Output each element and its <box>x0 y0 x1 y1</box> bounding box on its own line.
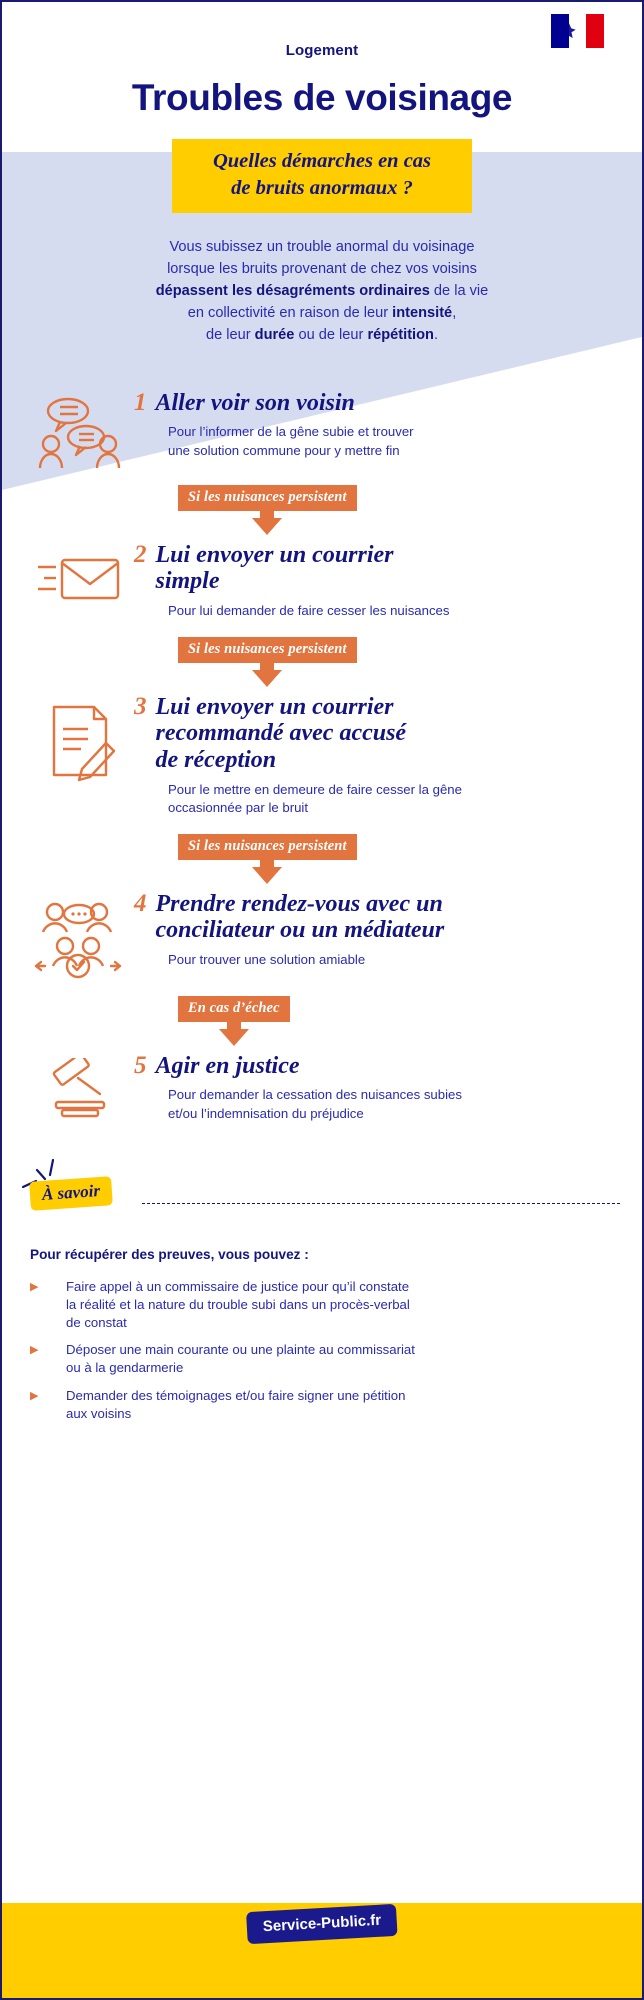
step-4: 4 Prendre rendez-vous avec un conciliate… <box>2 890 642 980</box>
intro-bold-desagrements: dépassent les désagréments ordinaires <box>156 283 430 299</box>
step-5-desc-line-2: et/ou l’indemnisation du préjudice <box>168 1105 622 1123</box>
step-2-title-line-2: simple <box>156 568 220 594</box>
intro-line-4: en collectivité en raison de leur intens… <box>112 303 532 325</box>
list-item: ▶ Déposer une main courante ou une plain… <box>30 1341 642 1377</box>
mediation-group-icon <box>24 890 134 980</box>
connector-4: En cas d’échec <box>2 996 642 1046</box>
connector-4-arrow-icon <box>219 1029 249 1046</box>
step-1: 1 Aller voir son voisin Pour l’informer … <box>2 389 642 469</box>
step-3: 3 Lui envoyer un courrier recommandé ave… <box>2 693 642 818</box>
bullet-2-line-1: Déposer une main courante ou une plainte… <box>66 1342 415 1357</box>
step-4-number: 4 <box>134 890 147 917</box>
bullet-2-line-2: ou à la gendarmerie <box>66 1360 183 1375</box>
intro-line-4-pre: en collectivité en raison de leur <box>188 305 392 321</box>
asavoir-header: À savoir <box>2 1171 642 1217</box>
connector-2-stem <box>260 663 274 670</box>
connector-3-label: Si les nuisances persistent <box>178 834 357 860</box>
step-4-desc-line-1: Pour trouver une solution amiable <box>168 951 622 969</box>
step-1-desc-line-1: Pour l’informer de la gêne subie et trou… <box>168 423 622 441</box>
page-title: Troubles de voisinage <box>2 77 642 119</box>
step-2-number: 2 <box>134 541 147 568</box>
triangle-bullet-icon: ▶ <box>30 1387 66 1405</box>
proof-section-title: Pour récupérer des preuves, vous pouvez … <box>30 1247 642 1262</box>
connector-4-stem <box>227 1022 241 1029</box>
connector-3-stem <box>260 860 274 867</box>
step-1-description: Pour l’informer de la gêne subie et trou… <box>168 423 622 459</box>
connector-1: Si les nuisances persistent <box>2 485 642 535</box>
intro-bold-intensite: intensité <box>392 305 452 321</box>
connector-1-arrow-icon <box>252 518 282 535</box>
proof-bullet-list: ▶ Faire appel à un commissaire de justic… <box>30 1278 642 1423</box>
steps-list: 1 Aller voir son voisin Pour l’informer … <box>2 389 642 1123</box>
speech-bubbles-people-icon <box>24 389 134 469</box>
connector-4-label: En cas d’échec <box>178 996 290 1022</box>
intro-line-3-rest: de la vie <box>430 283 488 299</box>
bullet-1-line-1: Faire appel à un commissaire de justice … <box>66 1279 409 1294</box>
step-3-number: 3 <box>134 693 147 720</box>
subtitle-highlight-box: Quelles démarches en cas de bruits anorm… <box>172 139 472 213</box>
step-3-title-line-2: recommandé avec accusé <box>156 720 407 746</box>
step-3-desc-line-2: occasionnée par le bruit <box>168 799 622 817</box>
connector-2: Si les nuisances persistent <box>2 637 642 687</box>
step-2-description: Pour lui demander de faire cesser les nu… <box>168 602 622 620</box>
step-4-title: Prendre rendez-vous avec un conciliateur… <box>156 891 445 945</box>
french-flag-icon <box>551 14 604 48</box>
step-2-title-line-1: Lui envoyer un courrier <box>156 542 394 568</box>
intro-line-2: lorsque les bruits provenant de chez vos… <box>112 259 532 281</box>
step-1-desc-line-2: une solution commune pour y mettre fin <box>168 442 622 460</box>
intro-bold-duree: durée <box>255 327 295 343</box>
bullet-1-line-3: de constat <box>66 1315 127 1330</box>
list-item: ▶ Faire appel à un commissaire de justic… <box>30 1278 642 1331</box>
category-kicker: Logement <box>2 42 642 59</box>
step-3-desc-line-1: Pour le mettre en demeure de faire cesse… <box>168 781 622 799</box>
connector-3: Si les nuisances persistent <box>2 834 642 884</box>
step-5-desc-line-1: Pour demander la cessation des nuisances… <box>168 1086 622 1104</box>
infographic-root: Logement Troubles de voisinage Quelles d… <box>2 2 642 1998</box>
asavoir-badge-label: À savoir <box>29 1176 113 1211</box>
intro-line-3: dépassent les désagréments ordinaires de… <box>112 281 532 303</box>
step-3-title-line-1: Lui envoyer un courrier <box>156 694 394 720</box>
document-pen-icon <box>24 693 134 783</box>
connector-1-stem <box>260 511 274 518</box>
step-4-title-line-2: conciliateur ou un médiateur <box>156 917 445 943</box>
step-2-title: Lui envoyer un courrier simple <box>156 542 394 596</box>
triangle-bullet-icon: ▶ <box>30 1278 66 1296</box>
connector-2-arrow-icon <box>252 670 282 687</box>
step-5-title: Agir en justice <box>156 1053 300 1080</box>
subtitle-line-2: de bruits anormaux ? <box>182 175 462 202</box>
connector-3-arrow-icon <box>252 867 282 884</box>
step-2: 2 Lui envoyer un courrier simple Pour lu… <box>2 541 642 621</box>
step-3-title-line-3: de réception <box>156 747 277 773</box>
intro-line-5-mid: ou de leur <box>294 327 367 343</box>
intro-line-4-post: , <box>452 305 456 321</box>
step-4-title-line-1: Prendre rendez-vous avec un <box>156 891 443 917</box>
connector-1-label: Si les nuisances persistent <box>178 485 357 511</box>
step-2-desc-line-1: Pour lui demander de faire cesser les nu… <box>168 602 622 620</box>
asavoir-dashed-line <box>142 1203 620 1204</box>
step-1-title: Aller voir son voisin <box>156 390 355 417</box>
step-5-number: 5 <box>134 1052 147 1079</box>
step-5: 5 Agir en justice Pour demander la cessa… <box>2 1052 642 1123</box>
step-5-description: Pour demander la cessation des nuisances… <box>168 1086 622 1122</box>
triangle-bullet-icon: ▶ <box>30 1341 66 1359</box>
intro-line-5-pre: de leur <box>206 327 255 343</box>
step-1-number: 1 <box>134 389 147 416</box>
step-3-description: Pour le mettre en demeure de faire cesse… <box>168 781 622 817</box>
bullet-3-line-2: aux voisins <box>66 1406 131 1421</box>
step-3-title: Lui envoyer un courrier recommandé avec … <box>156 694 407 775</box>
intro-line-1: Vous subissez un trouble anormal du vois… <box>112 237 532 259</box>
bullet-1-line-2: la réalité et la nature du trouble subi … <box>66 1297 410 1312</box>
intro-line-5-post: . <box>434 327 438 343</box>
envelope-icon <box>24 541 134 607</box>
subtitle-line-1: Quelles démarches en cas <box>182 148 462 175</box>
bullet-3-line-1: Demander des témoignages et/ou faire sig… <box>66 1388 405 1403</box>
intro-bold-repetition: répétition <box>367 327 433 343</box>
list-item: ▶ Demander des témoignages et/ou faire s… <box>30 1387 642 1423</box>
connector-2-label: Si les nuisances persistent <box>178 637 357 663</box>
intro-paragraph: Vous subissez un trouble anormal du vois… <box>112 237 532 346</box>
step-4-description: Pour trouver une solution amiable <box>168 951 622 969</box>
gavel-icon <box>24 1052 134 1120</box>
intro-line-5: de leur durée ou de leur répétition. <box>112 325 532 347</box>
